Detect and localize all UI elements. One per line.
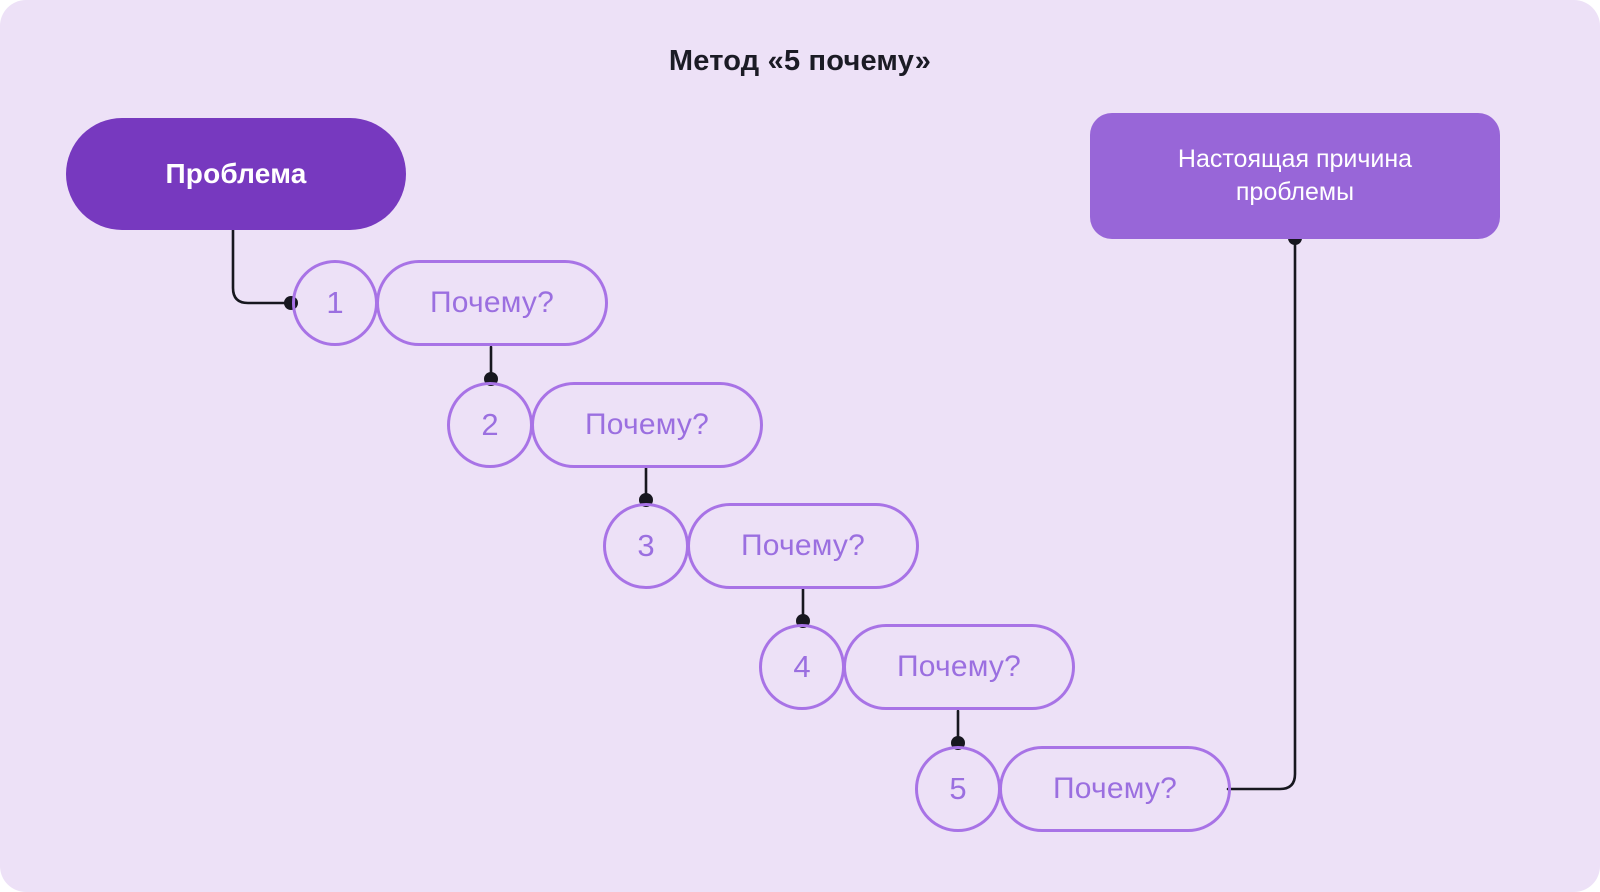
step-number-5: 5 xyxy=(949,771,966,807)
step-question-label-5: Почему? xyxy=(1053,772,1177,806)
why-step-2[interactable]: 2 Почему? xyxy=(447,382,763,468)
step-number-4: 4 xyxy=(793,649,810,685)
why-step-3[interactable]: 3 Почему? xyxy=(603,503,919,589)
root-cause-line-2: проблемы xyxy=(1178,176,1412,209)
step-number-2: 2 xyxy=(481,407,498,443)
problem-label: Проблема xyxy=(165,158,306,190)
why-step-1[interactable]: 1 Почему? xyxy=(292,260,608,346)
problem-box[interactable]: Проблема xyxy=(66,118,406,230)
step-number-3: 3 xyxy=(637,528,654,564)
why-step-5[interactable]: 5 Почему? xyxy=(915,746,1231,832)
root-cause-label: Настоящая причина проблемы xyxy=(1178,143,1412,210)
step-question-pill-1[interactable]: Почему? xyxy=(376,260,608,346)
root-cause-line-1: Настоящая причина xyxy=(1178,143,1412,176)
connector-5-to-root-cause xyxy=(1228,240,1295,789)
step-question-pill-5[interactable]: Почему? xyxy=(999,746,1231,832)
step-number-circle-3[interactable]: 3 xyxy=(603,503,689,589)
step-number-circle-4[interactable]: 4 xyxy=(759,624,845,710)
step-number-circle-5[interactable]: 5 xyxy=(915,746,1001,832)
step-question-pill-2[interactable]: Почему? xyxy=(531,382,763,468)
step-number-circle-2[interactable]: 2 xyxy=(447,382,533,468)
page-title: Метод «5 почему» xyxy=(0,45,1600,78)
diagram-canvas: Метод «5 почему» Проблема Настоящая прич… xyxy=(0,0,1600,892)
step-question-label-3: Почему? xyxy=(741,529,865,563)
step-number-circle-1[interactable]: 1 xyxy=(292,260,378,346)
why-step-4[interactable]: 4 Почему? xyxy=(759,624,1075,710)
step-number-1: 1 xyxy=(326,285,343,321)
step-question-label-2: Почему? xyxy=(585,408,709,442)
root-cause-box[interactable]: Настоящая причина проблемы xyxy=(1090,113,1500,239)
step-question-pill-3[interactable]: Почему? xyxy=(687,503,919,589)
step-question-label-4: Почему? xyxy=(897,650,1021,684)
step-question-label-1: Почему? xyxy=(430,286,554,320)
step-question-pill-4[interactable]: Почему? xyxy=(843,624,1075,710)
connector-problem-to-1 xyxy=(233,230,289,303)
